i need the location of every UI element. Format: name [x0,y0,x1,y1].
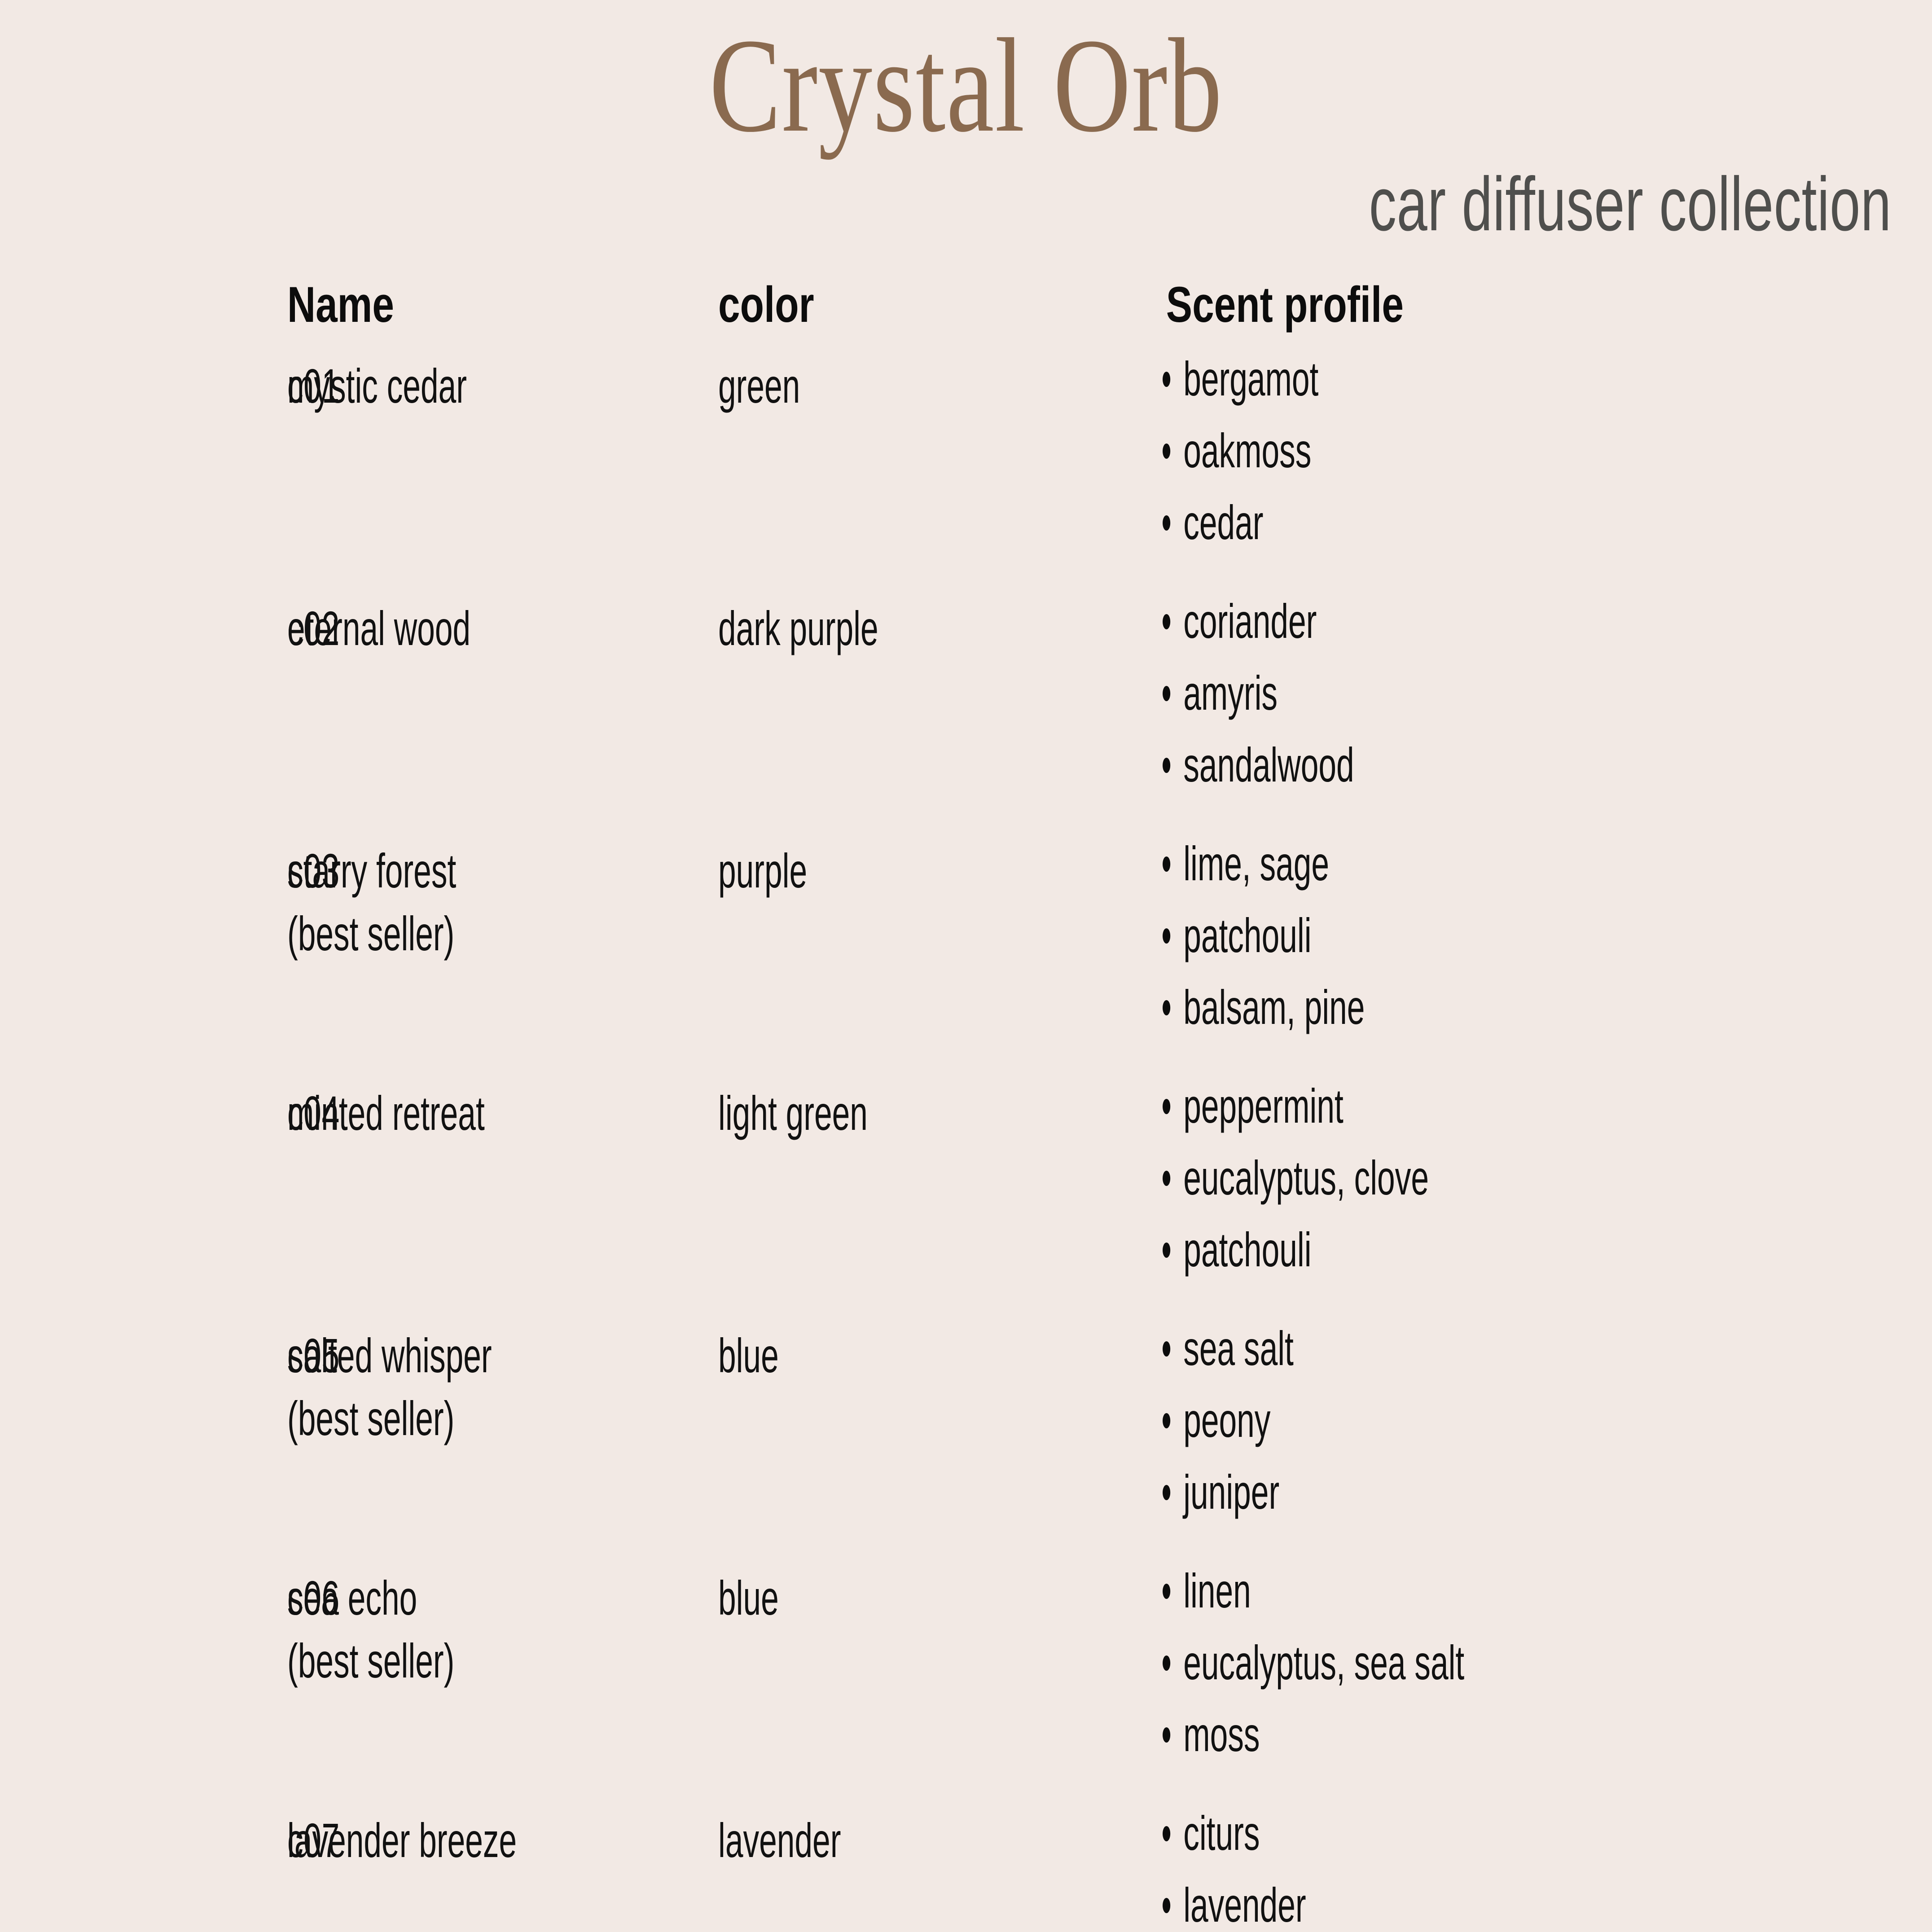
scent-note-item: eucalyptus, sea salt [1163,1638,1670,1687]
product-name-label: starry forest [287,843,456,898]
cell-product-name: sea echo(best seller) [287,1567,718,1693]
cell-scent-profile: citurslavendereucalyptus, cedar [1136,1809,1932,1932]
cell-product-name: eternal wood [287,597,718,660]
product-name-text: minted retreat [287,1082,572,1145]
cell-color: blue [718,1324,1136,1387]
product-name-text: sea echo(best seller) [287,1567,572,1693]
color-text: lavender [718,1809,994,1872]
scent-note-item: moss [1163,1710,1670,1759]
table-row: c02eternal wooddark purplecorianderamyri… [0,597,1932,789]
table-row: c01mystic cedargreenbergamotoakmosscedar [0,355,1932,547]
scent-note-item: linen [1163,1567,1670,1615]
cell-product-code: c03 [0,839,287,902]
scent-note-item: coriander [1163,597,1670,645]
color-text: dark purple [718,597,994,660]
product-name-text: lavender breeze [287,1809,572,1872]
column-header-scent-profile: Scent profile [1136,278,1932,331]
diffuser-collection-table: Name color Scent profile c01mystic cedar… [0,278,1932,1932]
color-text: light green [718,1082,994,1145]
best-seller-tag: (best seller) [287,1629,572,1692]
cell-scent-profile: lime, sagepatchoulibalsam, pine [1136,839,1932,1032]
scent-note-item: sandalwood [1163,741,1670,789]
color-text: blue [718,1324,994,1387]
scent-note-item: amyris [1163,669,1670,717]
scent-note-item: cedar [1163,498,1670,547]
cell-color: green [718,355,1136,417]
best-seller-tag: (best seller) [287,1387,572,1450]
column-header-color: color [718,278,1136,331]
product-name-label: sea echo [287,1571,417,1625]
scent-note-list: pepperminteucalyptus, clovepatchouli [1163,1082,1670,1274]
cell-scent-profile: pepperminteucalyptus, clovepatchouli [1136,1082,1932,1274]
table-row: c05salted whisper(best seller)bluesea sa… [0,1324,1932,1516]
page-header: Crystal Orb car diffuser collection [0,0,1932,269]
brand-subtitle: car diffuser collection [1369,166,1892,242]
cell-product-code: c01 [0,355,287,417]
scent-note-item: peony [1163,1396,1670,1445]
cell-color: dark purple [718,597,1136,660]
table-row: c03starry forest(best seller)purplelime,… [0,839,1932,1032]
column-header-name: Name [287,278,718,331]
table-body: c01mystic cedargreenbergamotoakmosscedar… [0,355,1932,1932]
product-name-label: salted whisper [287,1328,492,1383]
scent-note-list: sea saltpeonyjuniper [1163,1324,1670,1516]
best-seller-tag: (best seller) [287,902,572,965]
product-name-text: salted whisper(best seller) [287,1324,572,1450]
scent-note-item: juniper [1163,1468,1670,1516]
scent-note-item: bergamot [1163,355,1670,403]
scent-note-item: balsam, pine [1163,983,1670,1032]
cell-scent-profile: lineneucalyptus, sea saltmoss [1136,1567,1932,1759]
product-name-label: lavender breeze [287,1813,517,1867]
color-text: green [718,355,994,417]
cell-product-name: lavender breeze [287,1809,718,1872]
product-name-text: starry forest(best seller) [287,839,572,966]
scent-note-list: lime, sagepatchoulibalsam, pine [1163,839,1670,1032]
cell-color: purple [718,839,1136,902]
product-name-label: minted retreat [287,1086,485,1140]
cell-color: blue [718,1567,1136,1629]
product-name-text: mystic cedar [287,355,572,417]
product-name-label: eternal wood [287,601,470,655]
table-header-row: Name color Scent profile [0,278,1932,331]
cell-product-name: minted retreat [287,1082,718,1145]
scent-note-list: bergamotoakmosscedar [1163,355,1670,547]
brand-title: Crystal Orb [193,18,1739,153]
scent-note-list: citurslavendereucalyptus, cedar [1163,1809,1670,1932]
cell-product-code: c04 [0,1082,287,1145]
cell-color: light green [718,1082,1136,1145]
scent-note-item: lime, sage [1163,839,1670,888]
cell-product-code: c05 [0,1324,287,1387]
scent-note-item: eucalyptus, clove [1163,1154,1670,1202]
cell-product-name: salted whisper(best seller) [287,1324,718,1450]
table-row: c06sea echo(best seller)bluelineneucalyp… [0,1567,1932,1759]
cell-scent-profile: corianderamyrissandalwood [1136,597,1932,789]
cell-color: lavender [718,1809,1136,1872]
cell-product-code: c06 [0,1567,287,1629]
scent-note-list: lineneucalyptus, sea saltmoss [1163,1567,1670,1759]
table-row: c04minted retreatlight greenpepperminteu… [0,1082,1932,1274]
table-row: c07lavender breezelavenderciturslavender… [0,1809,1932,1932]
scent-note-item: lavender [1163,1881,1670,1929]
product-name-label: mystic cedar [287,359,467,413]
cell-product-name: mystic cedar [287,355,718,417]
color-text: purple [718,839,994,902]
cell-product-code: c02 [0,597,287,660]
scent-note-item: sea salt [1163,1324,1670,1373]
cell-product-code: c07 [0,1809,287,1872]
cell-product-name: starry forest(best seller) [287,839,718,966]
cell-scent-profile: bergamotoakmosscedar [1136,355,1932,547]
scent-note-item: citurs [1163,1809,1670,1857]
scent-note-item: oakmoss [1163,426,1670,475]
product-name-text: eternal wood [287,597,572,660]
scent-note-list: corianderamyrissandalwood [1163,597,1670,789]
cell-scent-profile: sea saltpeonyjuniper [1136,1324,1932,1516]
scent-note-item: peppermint [1163,1082,1670,1130]
scent-note-item: patchouli [1163,911,1670,960]
color-text: blue [718,1567,994,1629]
scent-note-item: patchouli [1163,1225,1670,1274]
